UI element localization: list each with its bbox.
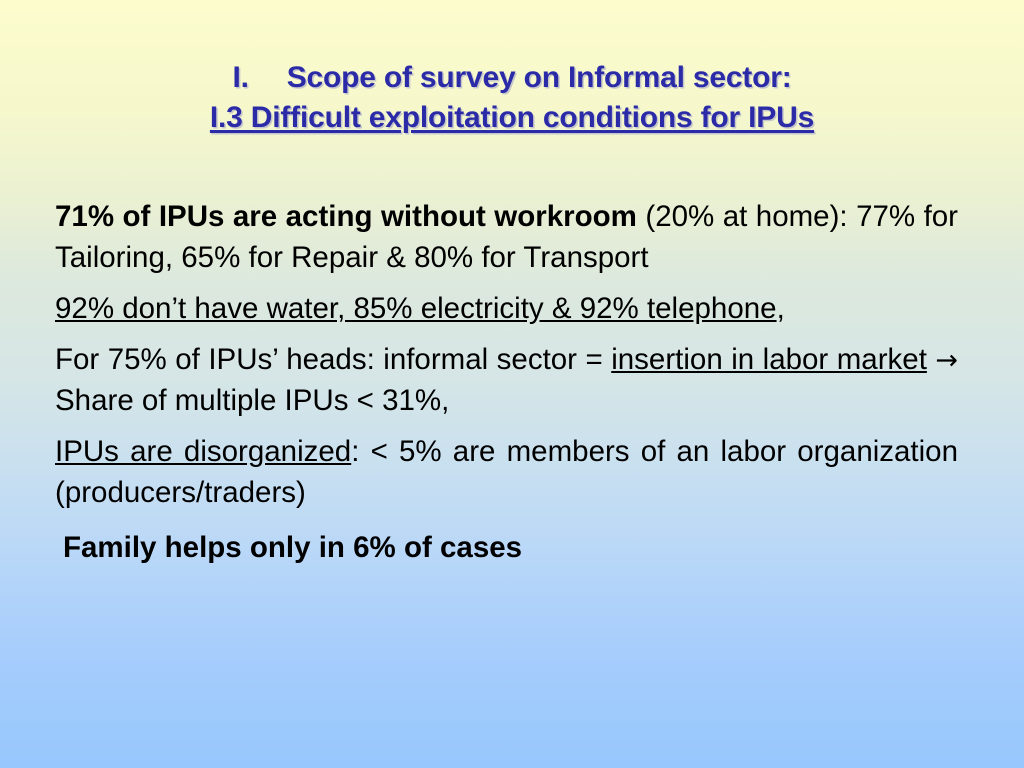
right-arrow-icon: →: [935, 345, 958, 376]
bullet-paragraph-3: For 75% of IPUs’ heads: informal sector …: [55, 339, 958, 421]
paragraph-1-bold-lead: 71% of IPUs are acting without workroom: [55, 200, 637, 233]
paragraph-4-underlined: IPUs are disorganized: [55, 435, 351, 468]
slide: I. Scope of survey on Informal sector: I…: [0, 0, 1024, 768]
paragraph-3-post: Share of multiple IPUs < 31%,: [55, 384, 449, 417]
bullet-paragraph-4: IPUs are disorganized: < 5% are members …: [55, 431, 958, 513]
paragraph-2-underlined: 92% don’t have water, 85% electricity & …: [55, 292, 777, 325]
title-line-2: I.3 Difficult exploitation conditions fo…: [0, 98, 1024, 138]
paragraph-3-pre: For 75% of IPUs’ heads: informal sector …: [55, 343, 611, 376]
slide-body: 71% of IPUs are acting without workroom …: [55, 196, 958, 568]
bullet-paragraph-2: 92% don’t have water, 85% electricity & …: [55, 288, 958, 329]
bullet-paragraph-1: 71% of IPUs are acting without workroom …: [55, 196, 958, 278]
title-line-1: I. Scope of survey on Informal sector:: [0, 58, 1024, 98]
paragraph-5-text: Family helps only in 6% of cases: [63, 531, 522, 564]
bullet-paragraph-5: Family helps only in 6% of cases: [55, 527, 958, 568]
slide-title: I. Scope of survey on Informal sector: I…: [0, 58, 1024, 137]
paragraph-2-tail: ,: [777, 292, 785, 325]
paragraph-3-underlined: insertion in labor market: [611, 343, 927, 376]
